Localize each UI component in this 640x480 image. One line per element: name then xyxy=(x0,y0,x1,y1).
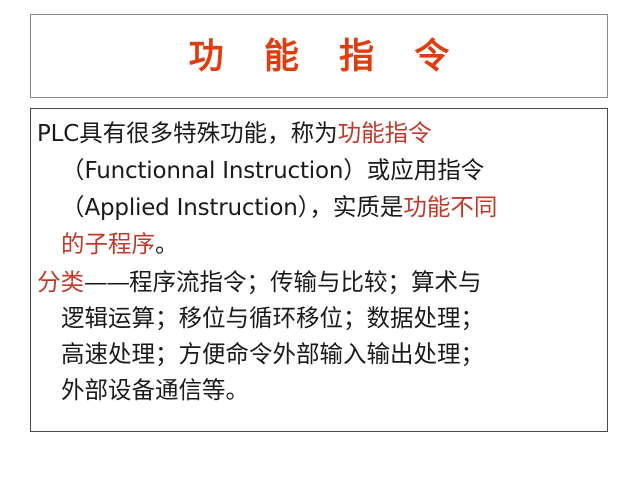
paren-open-1: （ xyxy=(61,156,85,184)
classification-items-3: 高速处理；方便命令外部输入输出处理； xyxy=(61,340,484,368)
label-classification: 分类 xyxy=(37,268,84,296)
paren-close-1: ） xyxy=(343,156,367,184)
paragraph-definition-line-1: PLC具有很多特殊功能，称为功能指令 xyxy=(37,115,603,152)
paragraph-classification-line-4: 外部设备通信等。 xyxy=(37,372,603,408)
slide: 功 能 指 令 PLC具有很多特殊功能，称为功能指令 （Functionnal … xyxy=(0,0,640,480)
classification-items-1: 程序流指令；传输与比较；算术与 xyxy=(129,268,482,296)
term-different-function: 功能不同 xyxy=(403,193,497,221)
term-functionnal-instruction-en: Functionnal Instruction xyxy=(85,158,344,184)
paragraph-classification: 分类——程序流指令；传输与比较；算术与 逻辑运算；移位与循环移位；数据处理； 高… xyxy=(37,264,603,408)
term-functional-instruction-cn: 功能指令 xyxy=(338,119,432,147)
title-frame: 功 能 指 令 xyxy=(30,14,608,98)
term-applied-instruction-en: Applied Instruction xyxy=(85,195,298,221)
content-frame: PLC具有很多特殊功能，称为功能指令 （Functionnal Instruct… xyxy=(30,108,608,432)
paren-open-2: （ xyxy=(61,193,85,221)
em-dash-separator: —— xyxy=(84,268,129,296)
period-1: 。 xyxy=(155,230,179,258)
text-definition-lead: 具有很多特殊功能，称为 xyxy=(79,119,338,147)
paragraph-classification-line-1: 分类——程序流指令；传输与比较；算术与 xyxy=(37,264,603,300)
paragraph-classification-line-3: 高速处理；方便命令外部输入输出处理； xyxy=(37,336,603,372)
paragraph-definition-line-4: 的子程序。 xyxy=(37,226,603,262)
paren-close-2: ） xyxy=(298,193,310,221)
paragraph-definition-line-2: （Functionnal Instruction）或应用指令 xyxy=(37,152,603,189)
classification-items-4: 外部设备通信等。 xyxy=(61,376,249,404)
text-or-applied-cn: 或应用指令 xyxy=(367,156,485,184)
paragraph-definition-line-3: （Applied Instruction），实质是功能不同 xyxy=(37,189,603,226)
text-plc: PLC xyxy=(37,121,79,147)
classification-items-2: 逻辑运算；移位与循环移位；数据处理； xyxy=(61,304,484,332)
paragraph-classification-line-2: 逻辑运算；移位与循环移位；数据处理； xyxy=(37,300,603,336)
page-title: 功 能 指 令 xyxy=(175,39,464,74)
paragraph-definition: PLC具有很多特殊功能，称为功能指令 （Functionnal Instruct… xyxy=(37,115,603,262)
text-essence-lead: ，实质是 xyxy=(309,193,403,221)
term-subroutine: 的子程序 xyxy=(61,230,155,258)
